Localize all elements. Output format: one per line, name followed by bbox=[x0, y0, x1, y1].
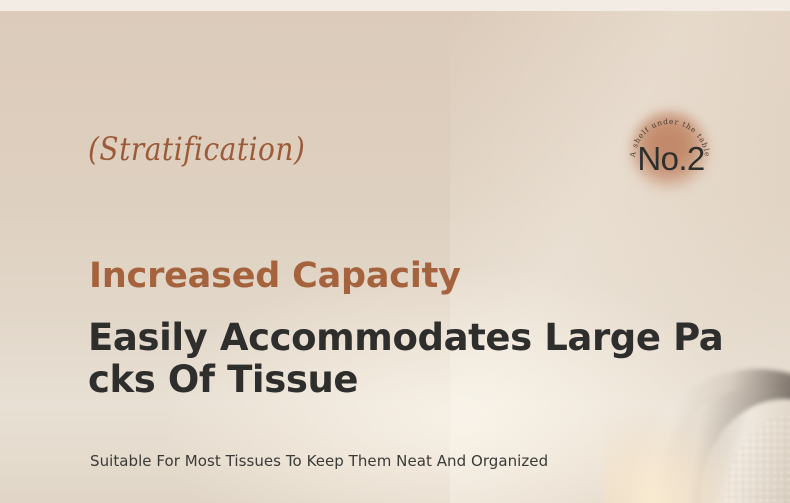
page-title: Easily Accommodates Large Pa cks Of Tiss… bbox=[88, 317, 728, 401]
eyebrow-text: Increased Capacity bbox=[89, 256, 461, 296]
badge-number: No.2 bbox=[630, 140, 712, 178]
subheading-text: Suitable For Most Tissues To Keep Them N… bbox=[90, 452, 548, 470]
series-badge: A shelf under the table No.2 bbox=[624, 107, 716, 199]
promo-slide: (Stratification) A shelf under the table… bbox=[0, 0, 790, 503]
top-strip bbox=[0, 0, 790, 11]
brand-wordmark: (Stratification) bbox=[88, 131, 305, 168]
